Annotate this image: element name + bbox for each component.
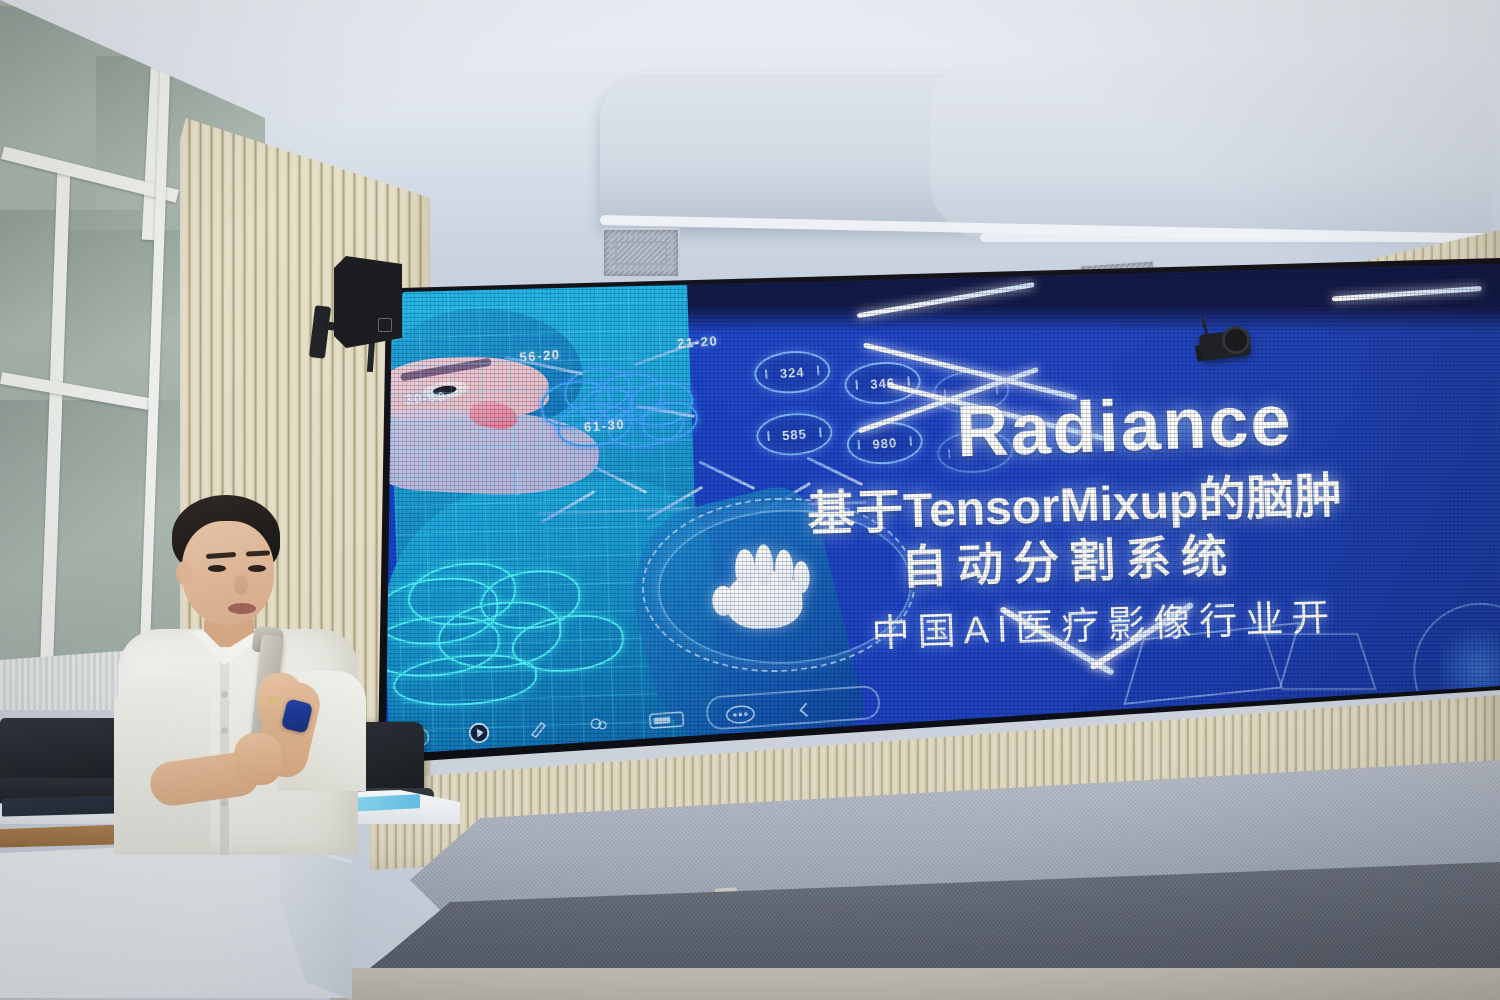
eraser-icon[interactable]	[586, 713, 613, 737]
data-label-2: 61-30	[584, 417, 626, 435]
presenter-eye-left	[208, 565, 226, 572]
brain-outline-graphic	[378, 552, 665, 733]
vent-louver-core	[615, 241, 667, 265]
speaker-cabinet	[334, 256, 402, 348]
screen-title-chinese-line2: 自动分割系统	[900, 519, 1238, 597]
play-icon[interactable]	[466, 721, 493, 745]
data-label-3: 30-60	[404, 389, 446, 407]
wall-speaker	[312, 256, 402, 364]
presenter-ear	[176, 561, 192, 585]
presenter-left-hand	[234, 733, 282, 785]
ceiling-soffit-secondary	[930, 60, 1490, 240]
gloved-hand-graphic	[707, 546, 828, 638]
light-streak-4	[857, 282, 1035, 318]
pen-icon[interactable]	[526, 717, 553, 741]
screenshot-root: 56-20 21-20 61-30 30-60 324 346 585 980	[0, 0, 1500, 1000]
brain-wireframe-graphic	[540, 363, 703, 455]
screen-icon[interactable]	[646, 707, 689, 732]
floor-foreground	[330, 968, 1500, 1000]
speaker-wall-plate	[309, 305, 331, 359]
presenter-eye-right	[248, 565, 266, 572]
shirt-button	[221, 691, 228, 698]
ptz-camera	[1196, 322, 1254, 362]
shirt-button	[221, 799, 228, 806]
metric-badge-0[interactable]: 324	[753, 349, 832, 396]
presenter-nose	[234, 575, 248, 595]
metric-badge-2[interactable]: 585	[755, 411, 834, 458]
led-video-wall[interactable]: 56-20 21-20 61-30 30-60 324 346 585 980	[378, 262, 1500, 754]
hvac-vent-left	[602, 228, 680, 278]
soffit-light-cove-secondary	[980, 233, 1500, 242]
presenter	[110, 495, 410, 855]
shirt-button	[221, 727, 228, 734]
metric-badge-1[interactable]: 346	[843, 359, 922, 406]
light-streak-5	[1332, 286, 1482, 302]
speaker-logo	[378, 318, 392, 332]
presenter-mouth	[228, 603, 256, 614]
